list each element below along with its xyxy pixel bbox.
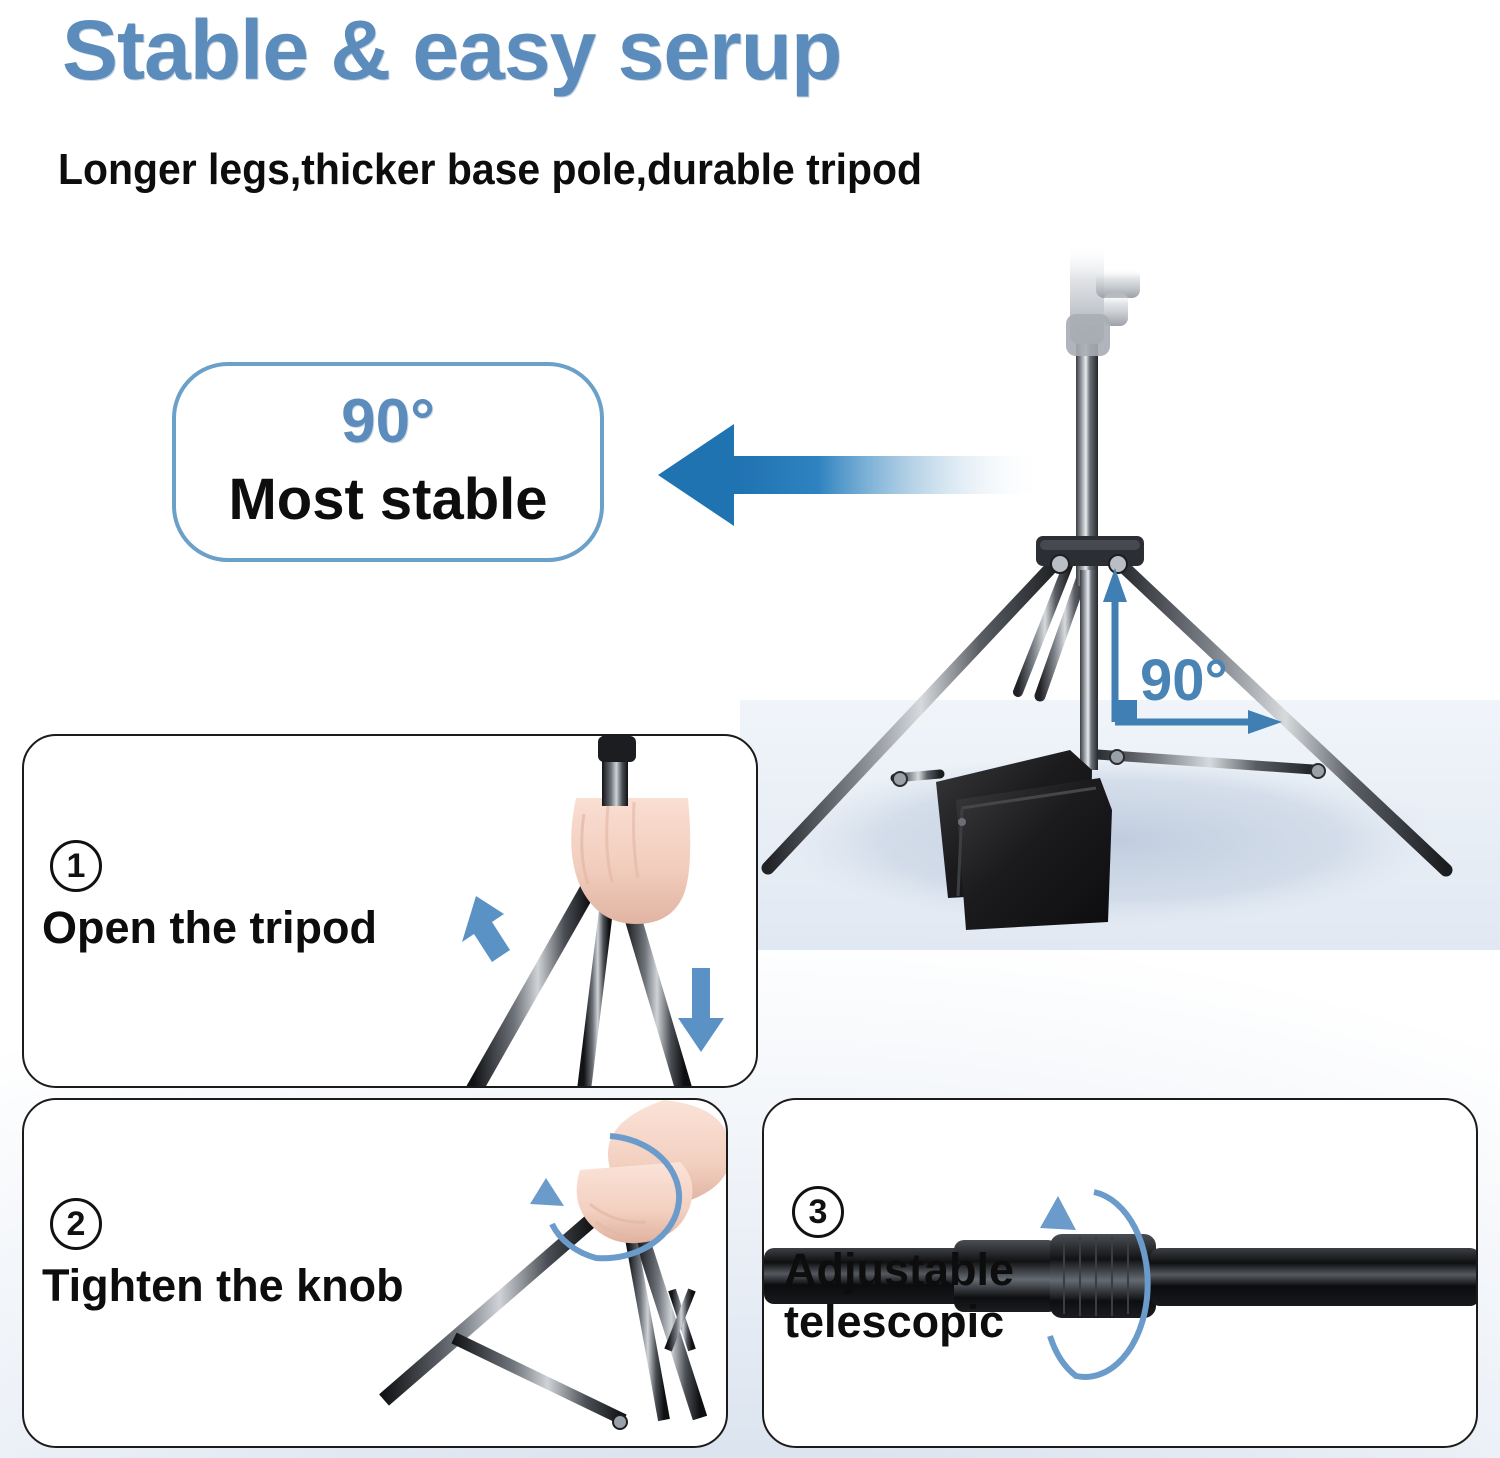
- step-label-3: Adjustable telescopic: [784, 1244, 1014, 1348]
- most-stable-callout-badge: 90° Most stable: [172, 362, 604, 562]
- step-label-1: Open the tripod: [42, 902, 377, 954]
- step-number-2: 2: [50, 1198, 102, 1250]
- page-subtitle: Longer legs,thicker base pole,durable tr…: [58, 145, 922, 195]
- step-number-1: 1: [50, 840, 102, 892]
- callout-label: Most stable: [176, 466, 600, 533]
- rotate-arrow-head-icon: [1040, 1196, 1076, 1230]
- down-arrow-icon: [678, 968, 724, 1052]
- down-left-arrow-icon: [462, 896, 510, 962]
- tripod-product-illustration: 90°: [740, 230, 1500, 950]
- step-number-3: 3: [792, 1186, 844, 1238]
- page-title: Stable & easy serup: [62, 2, 841, 99]
- rotate-arrow-head-icon: [530, 1178, 564, 1206]
- infographic-page: Stable & easy serup Longer legs,thicker …: [0, 0, 1500, 1458]
- step-label-2: Tighten the knob: [42, 1260, 404, 1312]
- left-arrow-icon: [648, 418, 1048, 548]
- angle-annotation-label: 90°: [1140, 648, 1228, 713]
- ground-plane: [740, 700, 1500, 950]
- top-mount-fitting: [1066, 244, 1140, 356]
- callout-angle-value: 90°: [176, 386, 600, 457]
